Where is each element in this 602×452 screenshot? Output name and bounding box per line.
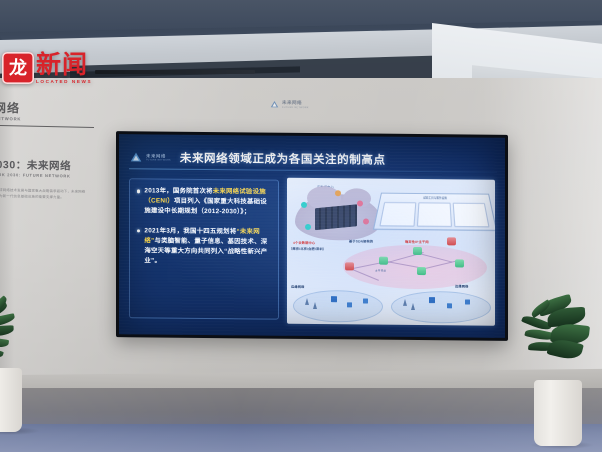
slide-logo-icon <box>129 150 143 164</box>
core-node-green <box>413 247 422 255</box>
building-icon <box>465 299 470 304</box>
diagram-panel-cell <box>417 202 452 227</box>
bullet-text-after: 与类脑智能、量子信息、基因技术、深海空天等重大方向共同列入“战略性新兴产业”。 <box>144 237 267 264</box>
diagram-tools-panel: 试验工具与服务设施 <box>373 193 495 231</box>
diagram-panel-title: 试验工具与服务设施 <box>381 195 490 200</box>
diagram-core-label: 基于SDN架构的 <box>349 238 373 243</box>
led-display-bezel: 未来网络 FUTURE NETWORK 未来网络领域正成为各国关注的制高点 20… <box>116 131 508 341</box>
diagram-edge-label-right: 边缘网络 <box>455 283 469 288</box>
cloud-node <box>305 224 311 230</box>
channel-logo-mark-icon: 龙 <box>2 52 34 84</box>
cloud-node <box>301 202 307 208</box>
plant-pot <box>534 380 582 446</box>
wall-sign-line2-en: WORK 2030: FUTURE NETWORK <box>0 172 71 179</box>
bullet-text-before: 2013年，国务院首次将 <box>144 187 212 195</box>
bullet-text-before: 2021年3月，我国十四五规划将 <box>144 227 236 235</box>
slide-title: 未来网络领域正成为各国关注的制高点 <box>180 150 386 168</box>
wall-sign-line2: 2030：未来网络 <box>0 157 71 174</box>
core-node-red <box>345 262 354 270</box>
plant-leaf <box>0 325 14 337</box>
building-icon <box>331 296 337 302</box>
bullet-text: 2021年3月，我国十四五规划将“未来网络”与类脑智能、量子信息、基因技术、深海… <box>144 226 271 268</box>
bullet-text: 2013年，国务院首次将未来网络试验设施（CENI）项目列入《国家重大科技基础设… <box>144 186 271 218</box>
channel-logo-name: 新闻 <box>36 53 92 78</box>
bullet-dot-icon <box>137 190 140 193</box>
server-racks-icon <box>315 204 357 230</box>
led-display-screen: 未来网络 FUTURE NETWORK 未来网络领域正成为各国关注的制高点 20… <box>119 134 505 338</box>
above-screen-sign-sub: FUTURE NETWORK <box>282 106 309 109</box>
above-screen-sign: 未来网络 FUTURE NETWORK <box>270 100 309 109</box>
wall-sign-body: 在全球网络技术发展与国家重大战略需求驱动下，未来网络正成为新一代信息基础设施的重… <box>0 187 88 201</box>
cloud-node <box>357 200 363 206</box>
diagram-cloud-note-red: 4个云数据中心 <box>293 240 315 245</box>
bullet-item: 2021年3月，我国十四五规划将“未来网络”与类脑智能、量子信息、基因技术、深海… <box>137 226 271 268</box>
diagram-panel-cell <box>453 203 490 228</box>
bullet-item: 2013年，国务院首次将未来网络试验设施（CENI）项目列入《国家重大科技基础设… <box>137 186 271 218</box>
edge-network-left <box>293 290 383 323</box>
wall-sign-line1: 网络 <box>0 99 20 117</box>
plant-leaf <box>0 336 9 349</box>
triangle-logo-icon <box>270 100 279 109</box>
cloud-node <box>335 190 341 196</box>
channel-logo: 龙 新闻 LOCATED NEWS <box>2 52 92 84</box>
channel-logo-glyph: 龙 <box>9 59 27 77</box>
diagram-core-node-label: 主干节点 <box>375 269 386 273</box>
logo-bar <box>95 70 255 74</box>
antenna-tower-icon <box>403 299 407 306</box>
diagram-panel-cell <box>379 202 416 227</box>
core-node-green <box>379 257 388 265</box>
building-icon <box>347 302 352 307</box>
building-icon <box>447 303 452 308</box>
wall-sign-divider <box>0 125 94 129</box>
channel-logo-name-en: LOCATED NEWS <box>36 79 92 84</box>
building-icon <box>429 297 435 303</box>
antenna-tower-icon <box>305 298 309 305</box>
bullet-dot-icon <box>137 229 140 232</box>
potted-plant-left <box>0 300 52 432</box>
wall-signage: 网络 NETWORK 2030：未来网络 WORK 2030: FUTURE N… <box>0 95 98 223</box>
wall-sign-line1-en: NETWORK <box>0 116 21 122</box>
diagram-core-label-red: 确定性IP主干网 <box>405 239 429 244</box>
core-node-green <box>455 259 464 267</box>
slide-bullet-card: 2013年，国务院首次将未来网络试验设施（CENI）项目列入《国家重大科技基础设… <box>129 178 279 319</box>
scene-photo: 网络 NETWORK 2030：未来网络 WORK 2030: FUTURE N… <box>0 0 602 452</box>
diagram-edge-label-left: 边缘网络 <box>291 284 305 289</box>
potted-plant-right <box>524 296 602 446</box>
plant-pot <box>0 368 22 432</box>
cloud-node <box>363 218 369 224</box>
edge-network-right <box>391 291 491 324</box>
antenna-tower-icon <box>313 302 317 309</box>
building-icon <box>363 298 368 303</box>
core-node-red <box>447 237 456 245</box>
core-node-green <box>417 267 426 275</box>
antenna-tower-icon <box>411 303 415 310</box>
diagram-cloud-note-sub: （南京/北京/合肥/深圳） <box>289 246 326 251</box>
slide-logo-line2: FUTURE NETWORK <box>146 159 171 161</box>
floor-reflection <box>0 388 602 452</box>
slide-network-diagram: 云数据中心 4个云数据中心 （南京/北京/合肥/深圳） 试验工具与服务设施 <box>287 178 495 326</box>
